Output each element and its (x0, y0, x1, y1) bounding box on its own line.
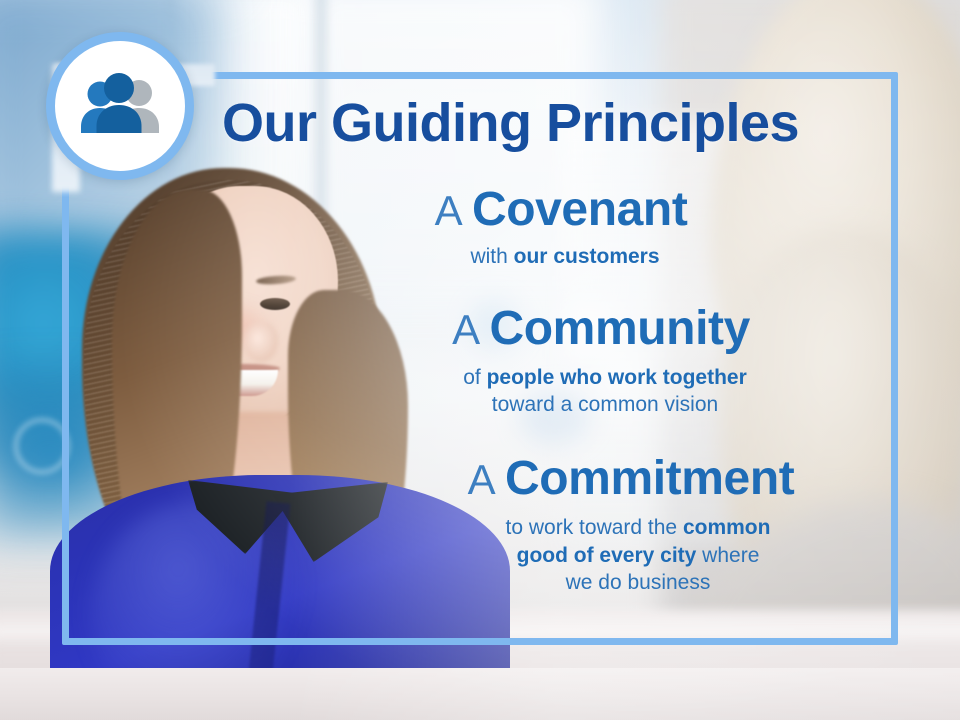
principle-heading: A Covenant (300, 186, 880, 235)
principle-article: A (468, 456, 505, 503)
table-foreground (0, 668, 960, 720)
principle-commitment: A Commitment to work toward the commongo… (300, 455, 880, 597)
people-group-icon (72, 71, 168, 141)
principle-heading: A Community (300, 305, 880, 354)
people-group-badge (46, 32, 194, 180)
guiding-principles-banner: FLOW AUTOMOTIVE FLOW (0, 0, 960, 720)
principle-keyword: Covenant (472, 183, 688, 236)
principle-community: A Community of people who work togethert… (300, 305, 880, 419)
principle-description: to work toward the commongood of every c… (300, 514, 880, 597)
eye (260, 298, 290, 310)
principle-article: A (435, 187, 472, 234)
principle-keyword: Community (489, 302, 749, 355)
principle-covenant: A Covenant with our customers (300, 186, 880, 271)
principles-list: A Covenant with our customers A Communit… (300, 186, 880, 607)
nose (244, 322, 278, 362)
principle-description: with our customers (300, 243, 880, 271)
principle-description: of people who work togethertoward a comm… (300, 364, 880, 419)
principle-heading: A Commitment (300, 455, 880, 504)
principle-keyword: Commitment (505, 452, 794, 505)
page-title: Our Guiding Principles (222, 96, 799, 150)
principle-article: A (452, 306, 489, 353)
